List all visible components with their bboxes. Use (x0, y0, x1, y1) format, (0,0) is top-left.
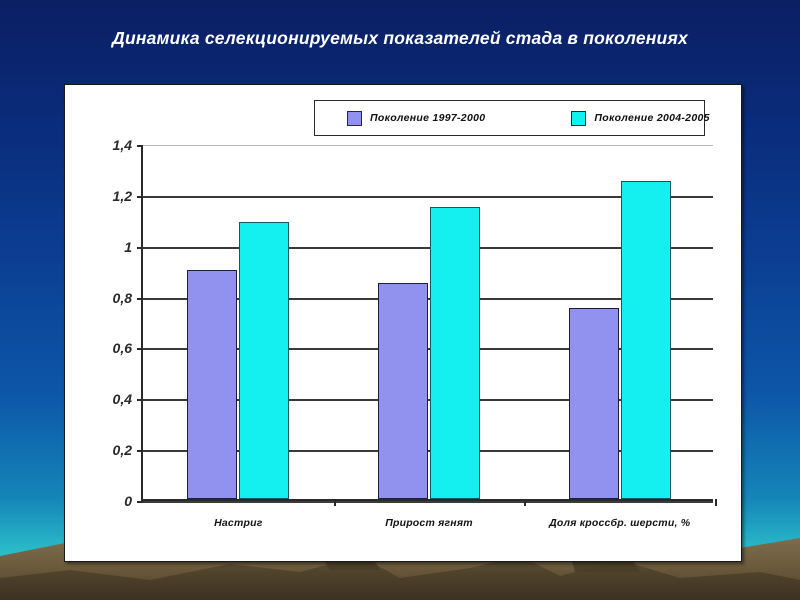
y-axis-tick (137, 348, 143, 350)
bar-series-1 (569, 308, 619, 499)
category-label: Прирост ягнят (385, 517, 473, 529)
y-axis-tick-label: 0,4 (113, 391, 132, 407)
gridline (143, 145, 713, 146)
category-separator-tick (524, 499, 526, 506)
y-axis-tick (137, 196, 143, 198)
legend-item-generation-1997-2000: Поколение 1997-2000 (347, 111, 485, 126)
category-separator-tick (334, 499, 336, 506)
y-axis-tick-label: 0,2 (113, 442, 132, 458)
plot-area: 1,41,210,80,60,40,20 НастригПрирост ягня… (141, 145, 713, 501)
y-axis-tick (137, 450, 143, 452)
slide-title: Динамика селекционируемых показателей ст… (0, 28, 800, 49)
y-axis-tick-label: 1 (124, 239, 132, 255)
y-axis-tick (137, 298, 143, 300)
chart-legend: Поколение 1997-2000 Поколение 2004-2005 (314, 100, 705, 136)
category-label: Настриг (214, 517, 262, 529)
legend-label-series-2: Поколение 2004-2005 (594, 112, 709, 124)
chart-panel: Поколение 1997-2000 Поколение 2004-2005 … (64, 84, 742, 562)
legend-label-series-1: Поколение 1997-2000 (370, 112, 485, 124)
y-axis-tick (137, 247, 143, 249)
bar-series-2 (430, 207, 480, 499)
y-axis-tick-label: 0 (124, 493, 132, 509)
y-axis-tick (137, 399, 143, 401)
bar-series-2 (239, 222, 289, 499)
category-label: Доля кроссбр. шерсти, % (549, 517, 690, 529)
y-axis-tick-label: 0,6 (113, 340, 132, 356)
legend-swatch-icon-series-1 (347, 111, 362, 126)
y-axis-tick-label: 1,2 (113, 188, 132, 204)
slide: Динамика селекционируемых показателей ст… (0, 0, 800, 600)
legend-item-generation-2004-2005: Поколение 2004-2005 (571, 111, 709, 126)
y-axis-tick (137, 501, 143, 503)
bar-series-1 (187, 270, 237, 499)
category-separator-tick (715, 499, 717, 506)
y-axis-tick-label: 0,8 (113, 290, 132, 306)
legend-swatch-icon-series-2 (571, 111, 586, 126)
y-axis-tick-label: 1,4 (113, 137, 132, 153)
bar-series-2 (621, 181, 671, 499)
gridline (143, 501, 713, 503)
y-axis-tick (137, 145, 143, 147)
bar-series-1 (378, 283, 428, 499)
